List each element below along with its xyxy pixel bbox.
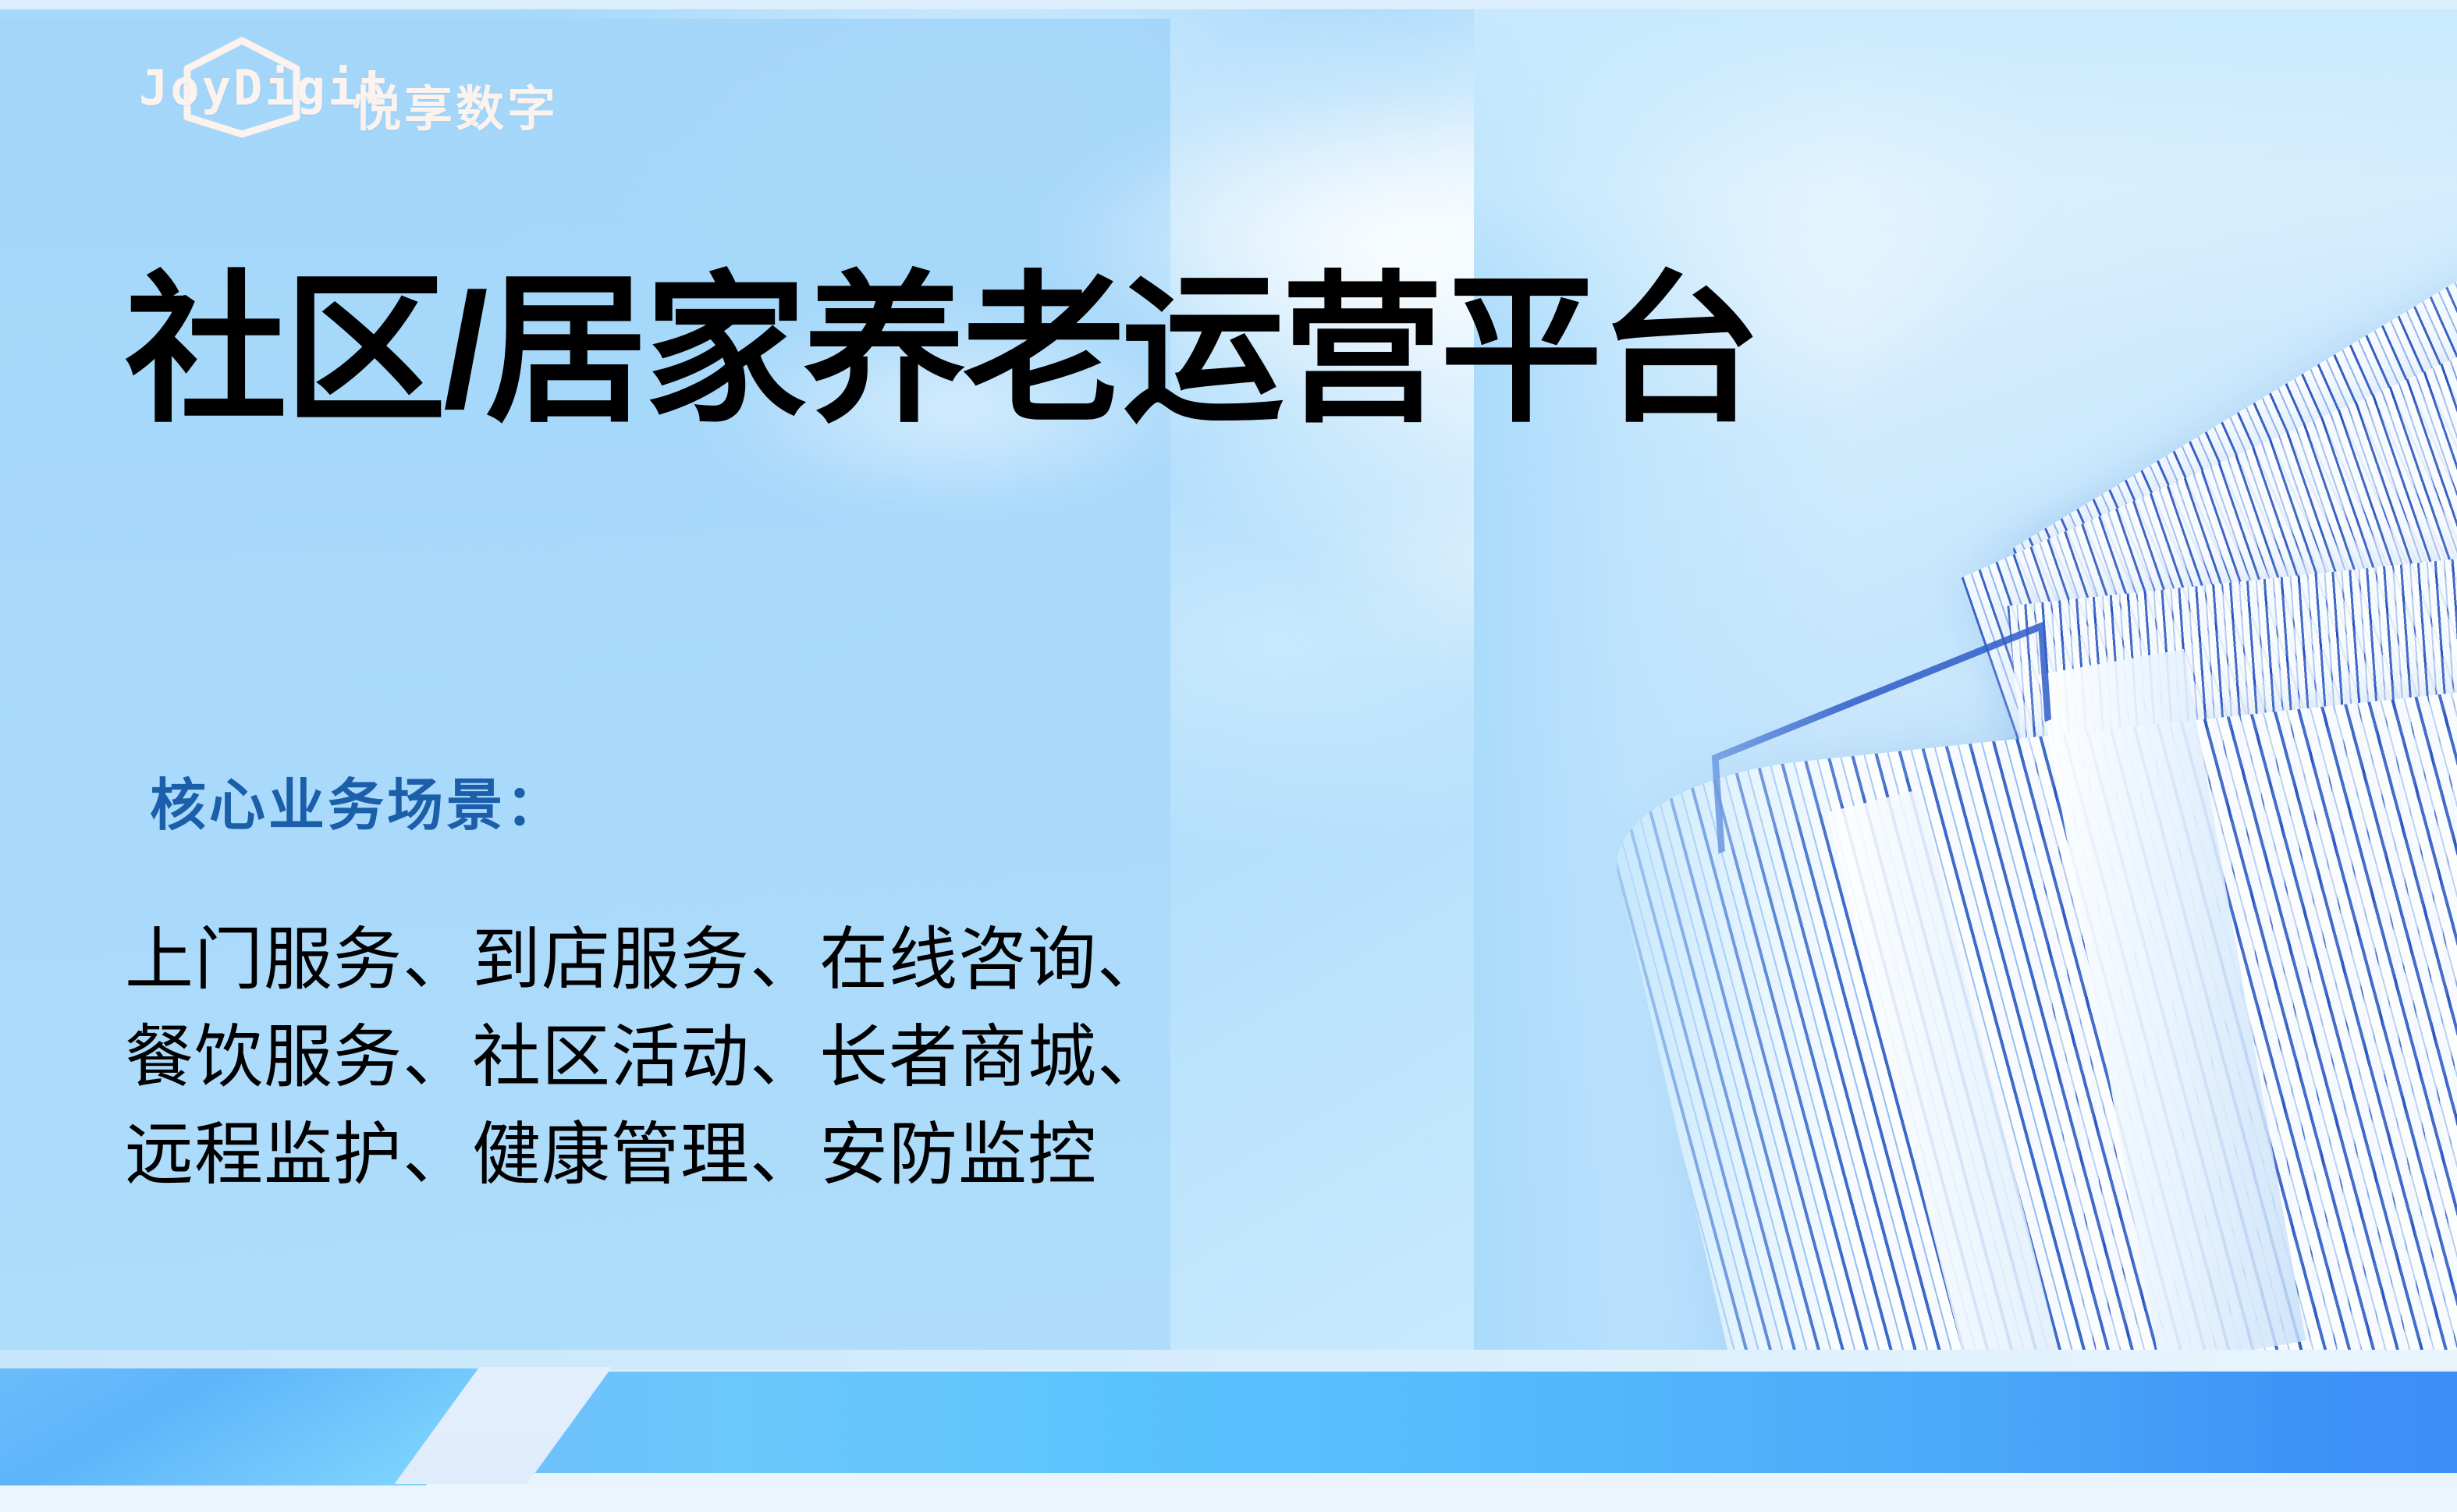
banner-top-hairline bbox=[0, 1350, 2457, 1370]
skyscraper-photo bbox=[1474, 9, 2457, 1381]
scenario-line-1: 上门服务、到店服务、在线咨询、 bbox=[125, 911, 1166, 1009]
scenario-list: 上门服务、到店服务、在线咨询、 餐饮服务、社区活动、长者商城、 远程监护、健康管… bbox=[125, 911, 1166, 1204]
scenario-line-2: 餐饮服务、社区活动、长者商城、 bbox=[125, 1009, 1166, 1106]
top-edge-strip bbox=[0, 0, 2457, 9]
scenario-line-3: 远程监护、健康管理、安防监控 bbox=[125, 1106, 1166, 1204]
page-title: 社区/居家养老运营平台 bbox=[125, 257, 1759, 445]
section-label: 核心业务场景： bbox=[150, 772, 565, 839]
logo-mark: JoyDigit bbox=[139, 36, 336, 139]
slide-root: JoyDigit 悦享数字 社区/居家养老运营平台 核心业务场景： 上门服务、到… bbox=[0, 0, 2457, 1512]
brand-logo[interactable]: JoyDigit 悦享数字 bbox=[139, 36, 559, 139]
logo-wordmark-latin: JoyDigit bbox=[139, 64, 391, 112]
footer-banner bbox=[0, 1350, 2457, 1512]
